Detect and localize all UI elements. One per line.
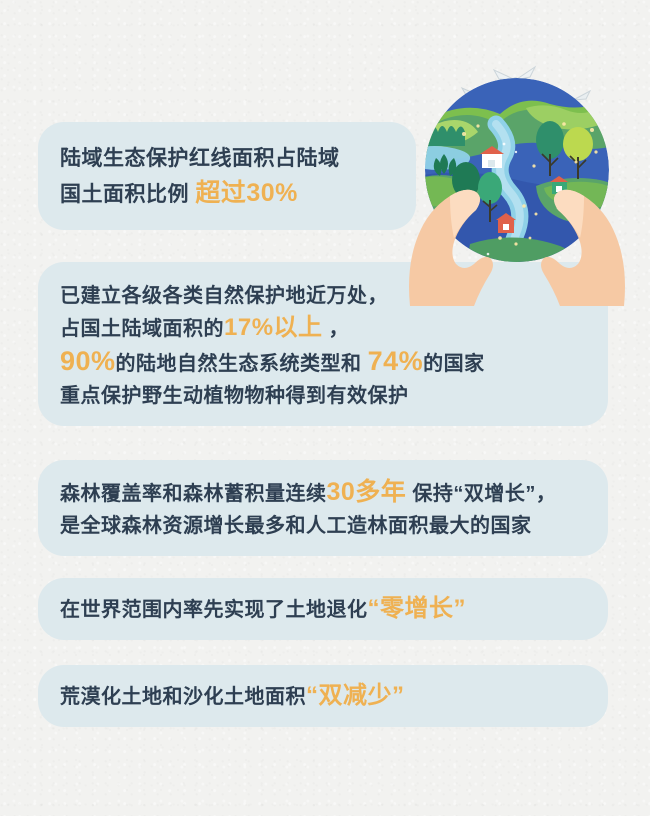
- statistic-text-desertification: 荒漠化土地和沙化土地面积“双减少”: [60, 680, 405, 713]
- body-text: 荒漠化土地和沙化土地面积: [60, 686, 306, 708]
- statistic-text-land-degradation: 在世界范围内率先实现了土地退化“零增长”: [60, 593, 466, 626]
- statistic-card-land-degradation: 在世界范围内率先实现了土地退化“零增长”: [38, 578, 608, 640]
- statistic-card-desertification: 荒漠化土地和沙化土地面积“双减少”: [38, 665, 608, 727]
- body-text: 陆域生态保护红线面积占陆域: [60, 147, 340, 170]
- text-line: 陆域生态保护红线面积占陆域: [60, 142, 340, 176]
- highlighted-figure: 30多年: [327, 478, 407, 506]
- body-text: 国土面积比例: [60, 183, 195, 206]
- text-line: 荒漠化土地和沙化土地面积“双减少”: [60, 680, 405, 713]
- highlighted-figure: “双减少”: [306, 682, 405, 709]
- hands-holding-earth-illustration: [404, 58, 630, 306]
- body-text: 占国土陆域面积的: [60, 318, 224, 340]
- text-line: 是全球森林资源增长最多和人工造林面积最大的国家: [60, 510, 556, 542]
- text-line: 重点保护野生动植物物种得到有效保护: [60, 380, 485, 412]
- body-text: 森林覆盖率和森林蓄积量连续: [60, 483, 327, 505]
- statistic-card-forest-coverage: 森林覆盖率和森林蓄积量连续30多年 保持“双增长”， 是全球森林资源增长最多和人…: [38, 460, 608, 556]
- text-line: 在世界范围内率先实现了土地退化“零增长”: [60, 593, 466, 626]
- body-text: 在世界范围内率先实现了土地退化: [60, 599, 368, 621]
- body-text: 保持“双增长”，: [406, 483, 556, 505]
- statistic-text-ecological-redline: 陆域生态保护红线面积占陆域 国土面积比例 超过30%: [60, 142, 340, 212]
- body-text: 是全球森林资源增长最多和人工造林面积最大的国家: [60, 515, 532, 537]
- body-text: 的国家: [423, 353, 485, 375]
- highlighted-figure: 74%: [368, 346, 424, 376]
- text-line: 森林覆盖率和森林蓄积量连续30多年 保持“双增长”，: [60, 476, 556, 510]
- body-text: ，: [323, 318, 350, 340]
- text-line: 90%的陆地自然生态系统类型和 74%的国家: [60, 345, 485, 380]
- body-text: 重点保护野生动植物物种得到有效保护: [60, 385, 409, 407]
- statistic-text-forest-coverage: 森林覆盖率和森林蓄积量连续30多年 保持“双增长”， 是全球森林资源增长最多和人…: [60, 476, 556, 542]
- text-line: 占国土陆域面积的17%以上 ，: [60, 312, 485, 345]
- highlighted-figure: 90%: [60, 346, 116, 376]
- highlighted-figure: 17%以上: [224, 314, 323, 341]
- highlighted-figure: “零增长”: [368, 595, 467, 622]
- text-line: 国土面积比例 超过30%: [60, 176, 340, 212]
- highlighted-figure: 超过30%: [195, 179, 298, 207]
- statistic-card-ecological-redline: 陆域生态保护红线面积占陆域 国土面积比例 超过30%: [38, 122, 416, 230]
- body-text: 已建立各级各类自然保护地近万处，: [60, 285, 388, 307]
- body-text: 的陆地自然生态系统类型和: [116, 353, 368, 375]
